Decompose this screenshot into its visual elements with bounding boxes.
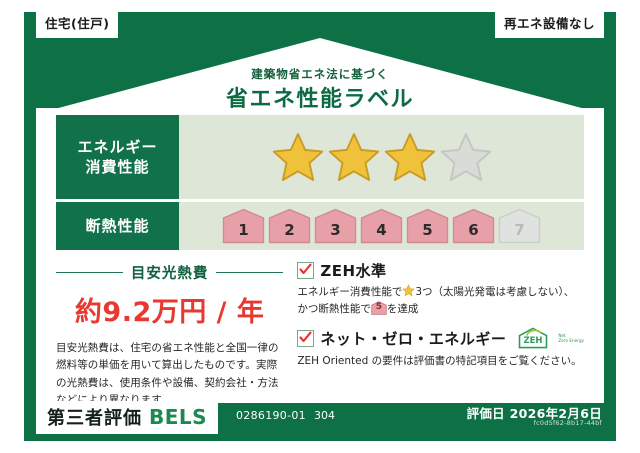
net-zero-check-line: ネット・ゼロ・エネルギー ZEH Net Zero Energy bbox=[297, 326, 584, 350]
building-type-tag: 住宅(住戸) bbox=[36, 12, 118, 38]
insulation-performance-row: 断熱性能 1234567 bbox=[56, 202, 584, 250]
zeh-level-check-line: ZEH水準 bbox=[297, 260, 584, 281]
energy-performance-value bbox=[179, 115, 584, 199]
insulation-badge-number: 7 bbox=[514, 221, 524, 244]
energy-label-line2: 消費性能 bbox=[85, 157, 149, 177]
bels-logo-text: BELS bbox=[149, 405, 207, 429]
inline-star-icon bbox=[402, 284, 415, 297]
star-filled-icon bbox=[272, 131, 324, 183]
star-empty-icon bbox=[440, 131, 492, 183]
insulation-badge-6: 6 bbox=[452, 208, 495, 244]
insulation-badge-2: 2 bbox=[268, 208, 311, 244]
inline-badge-number: 5 bbox=[371, 300, 387, 315]
inline-insulation-badge: 5 bbox=[371, 301, 387, 315]
net-zero-description: ZEH Oriented の要件は評価書の特記項目をご覧ください。 bbox=[297, 353, 584, 370]
label-body-panel: エネルギー 消費性能 断熱性能 1234567 bbox=[36, 108, 604, 403]
performance-grid: エネルギー 消費性能 断熱性能 1234567 bbox=[56, 115, 584, 253]
zeh-level-checkbox[interactable] bbox=[297, 262, 314, 279]
title-block: 建築物省エネ法に基づく 省エネ性能ラベル bbox=[36, 38, 604, 114]
energy-performance-row: エネルギー 消費性能 bbox=[56, 115, 584, 199]
insulation-badge-7: 7 bbox=[498, 208, 541, 244]
checkmark-icon bbox=[299, 331, 312, 344]
utility-cost-title: 目安光熱費 bbox=[131, 262, 209, 283]
utility-cost-note: 目安光熱費は、住宅の省エネ性能と全国一律の燃料等の単価を用いて算出したものです。… bbox=[56, 340, 283, 409]
energy-label-card: 建築物省エネ法に基づく 省エネ性能ラベル 住宅(住戸) 再エネ設備なし エネルギ… bbox=[24, 12, 616, 441]
zeh-logo-icon: ZEH bbox=[516, 326, 550, 350]
rule-left bbox=[56, 272, 123, 274]
insulation-badge-number: 6 bbox=[468, 221, 478, 244]
energy-performance-label: エネルギー 消費性能 bbox=[56, 115, 179, 199]
svg-text:ZEH: ZEH bbox=[524, 336, 543, 346]
renewable-energy-tag: 再エネ設備なし bbox=[495, 12, 604, 38]
utility-cost-column: 目安光熱費 約9.2万円 / 年 目安光熱費は、住宅の省エネ性能と全国一律の燃料… bbox=[56, 260, 283, 396]
insulation-badge-number: 3 bbox=[330, 221, 340, 244]
zeh-level-description: エネルギー消費性能で3つ（太陽光発電は考慮しない）、かつ断熱性能で5を達成 bbox=[297, 284, 584, 318]
zeh-column: ZEH水準 エネルギー消費性能で3つ（太陽光発電は考慮しない）、かつ断熱性能で5… bbox=[283, 260, 584, 396]
insulation-badge-4: 4 bbox=[360, 208, 403, 244]
evaluation-hash: fc0d5f62-8b17-44bf bbox=[534, 419, 602, 427]
insulation-performance-label: 断熱性能 bbox=[56, 202, 179, 250]
utility-cost-value: 約9.2万円 / 年 bbox=[56, 290, 283, 329]
net-zero-checkbox[interactable] bbox=[297, 330, 314, 347]
title-subtitle: 建築物省エネ法に基づく bbox=[36, 66, 604, 82]
insulation-level-badges: 1234567 bbox=[222, 208, 541, 244]
footer-bar: 第三者評価 BELS 0286190-01 304 評価日 2026年2月6日 … bbox=[36, 401, 604, 431]
bels-certificate-number: 0286190-01 bbox=[236, 409, 306, 422]
lower-section: 目安光熱費 約9.2万円 / 年 目安光熱費は、住宅の省エネ性能と全国一律の燃料… bbox=[56, 260, 584, 396]
insulation-badge-number: 2 bbox=[284, 221, 294, 244]
insulation-badge-number: 1 bbox=[238, 221, 248, 244]
zeh-desc-part3: を達成 bbox=[387, 303, 419, 315]
bels-secondary-number: 304 bbox=[314, 409, 335, 422]
insulation-badge-5: 5 bbox=[406, 208, 449, 244]
zeh-logo-sub2: Zero Energy bbox=[558, 338, 584, 343]
insulation-badge-1: 1 bbox=[222, 208, 265, 244]
bels-japanese-label: 第三者評価 bbox=[47, 404, 142, 430]
zeh-logo-sub1: Net bbox=[558, 333, 565, 338]
net-zero-title: ネット・ゼロ・エネルギー bbox=[320, 328, 506, 349]
energy-label-line1: エネルギー bbox=[77, 137, 157, 157]
zeh-level-title: ZEH水準 bbox=[320, 260, 386, 281]
insulation-badge-number: 4 bbox=[376, 221, 386, 244]
star-filled-icon bbox=[328, 131, 380, 183]
insulation-badge-3: 3 bbox=[314, 208, 357, 244]
insulation-performance-value: 1234567 bbox=[179, 202, 584, 250]
checkmark-icon bbox=[299, 263, 312, 276]
zeh-logo-subtext: Net Zero Energy bbox=[558, 333, 584, 344]
rule-right bbox=[216, 272, 283, 274]
zeh-desc-part1: エネルギー消費性能で bbox=[297, 286, 402, 298]
star-rating bbox=[272, 131, 492, 183]
utility-cost-heading: 目安光熱費 bbox=[56, 262, 283, 283]
bels-certification-box: 第三者評価 BELS bbox=[36, 401, 218, 434]
insulation-badge-number: 5 bbox=[422, 221, 432, 244]
insulation-label-text: 断熱性能 bbox=[85, 216, 149, 236]
star-filled-icon bbox=[384, 131, 436, 183]
